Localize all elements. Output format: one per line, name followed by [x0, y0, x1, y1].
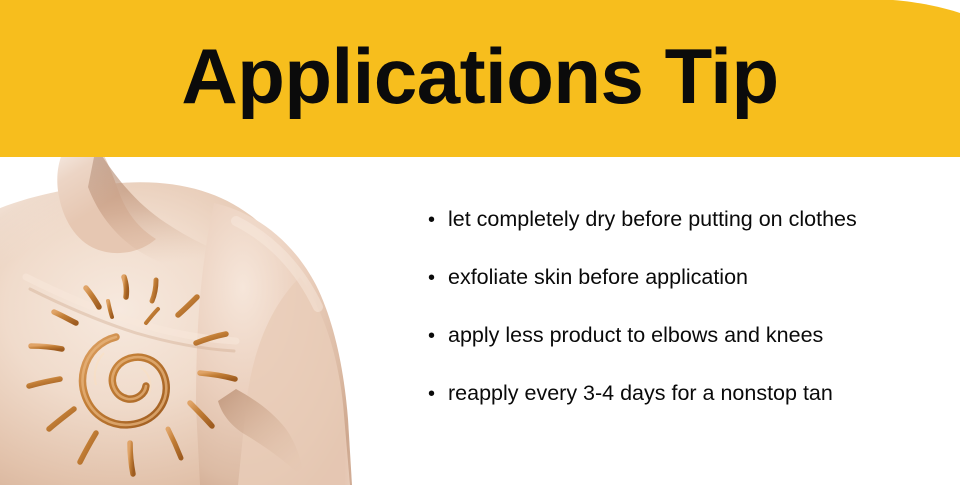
bullet-icon: •	[428, 323, 448, 349]
tip-label: apply less product to elbows and knees	[448, 322, 952, 348]
bullet-icon: •	[428, 381, 448, 407]
page-title: Applications Tip	[0, 0, 960, 157]
tip-label: reapply every 3-4 days for a nonstop tan	[448, 380, 952, 406]
header-banner: Applications Tip	[0, 0, 960, 157]
product-photo	[0, 157, 420, 485]
list-item: • let completely dry before putting on c…	[428, 206, 952, 264]
photo-illustration	[0, 157, 420, 485]
application-tip-banner: Applications Tip	[0, 0, 960, 485]
bullet-icon: •	[428, 207, 448, 233]
tip-label: exfoliate skin before application	[448, 264, 952, 290]
list-item: • reapply every 3-4 days for a nonstop t…	[428, 380, 952, 438]
skin-body	[0, 157, 420, 485]
list-item: • apply less product to elbows and knees	[428, 322, 952, 380]
bullet-icon: •	[428, 265, 448, 291]
tips-list: • let completely dry before putting on c…	[428, 206, 952, 438]
list-item: • exfoliate skin before application	[428, 264, 952, 322]
tip-label: let completely dry before putting on clo…	[448, 206, 952, 232]
